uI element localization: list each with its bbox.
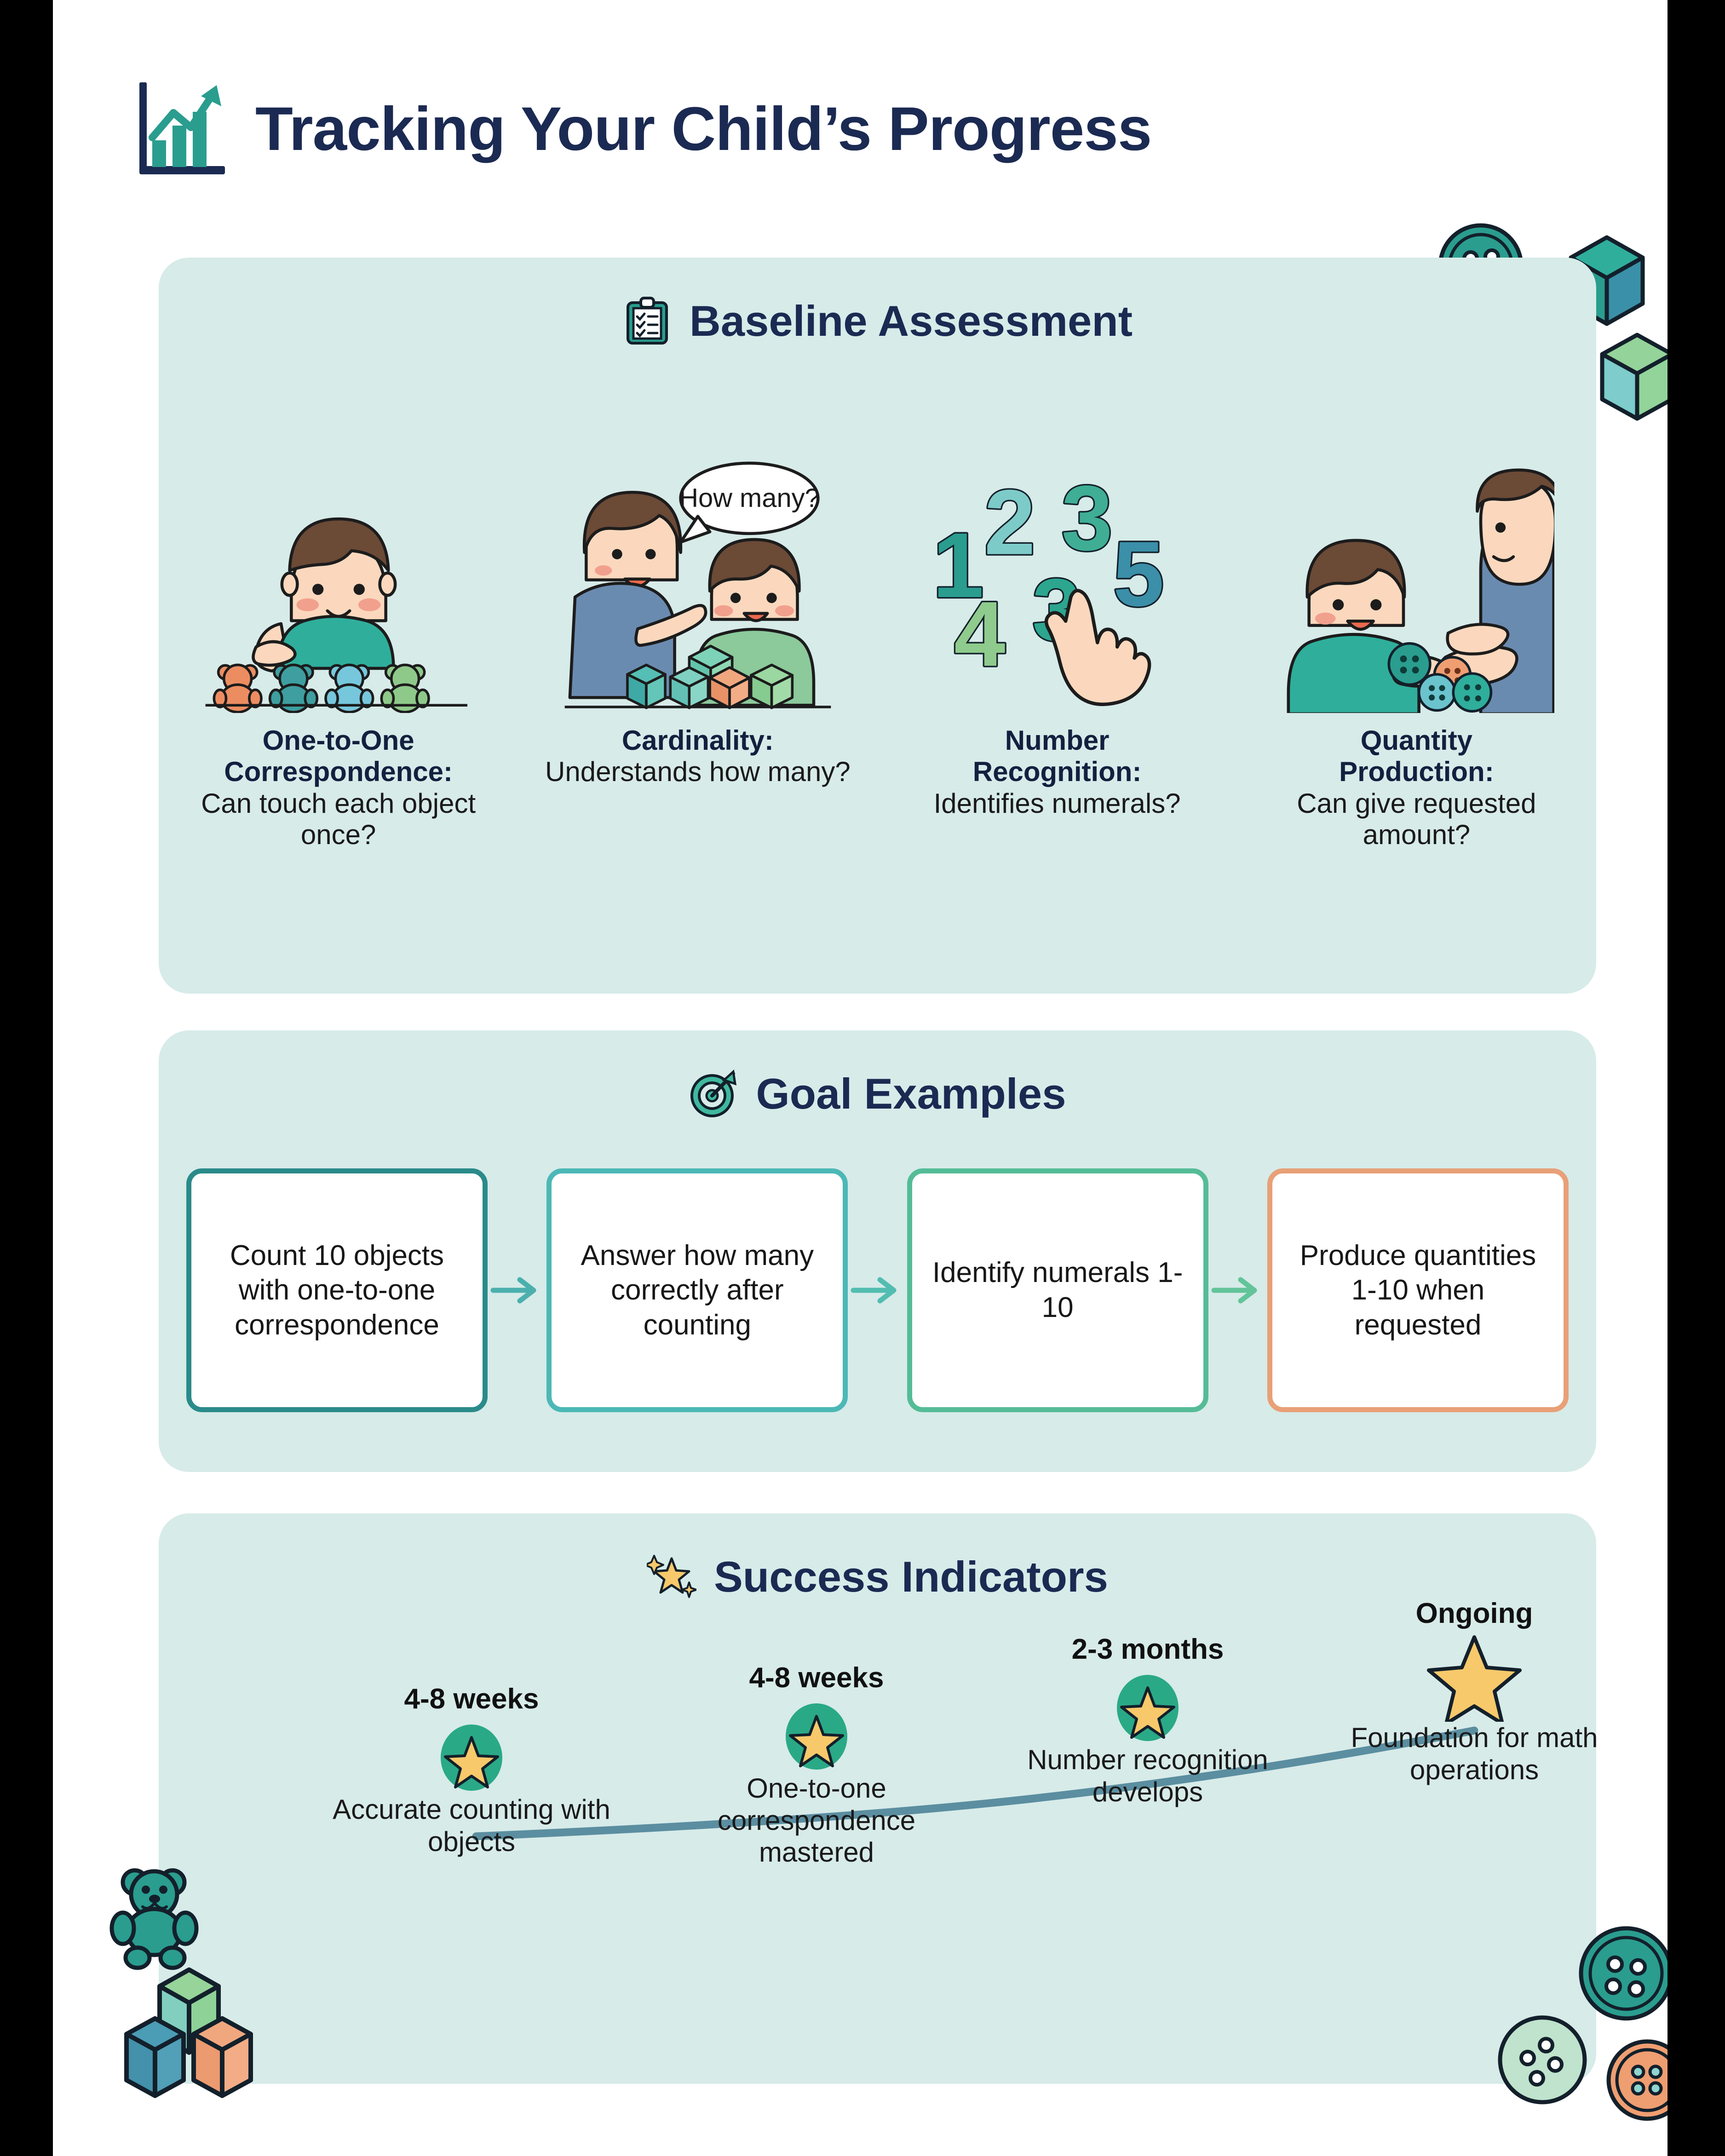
baseline-assessment-panel: Baseline Assessment xyxy=(159,258,1596,994)
clipboard-checklist-icon xyxy=(622,296,672,346)
goal-box-text: Count 10 objects with one-to-one corresp… xyxy=(203,1238,471,1343)
milestone-description: One-to-one correspondence mastered xyxy=(669,1772,964,1869)
arrow-right-icon xyxy=(488,1274,546,1306)
milestone-description: Foundation for math operations xyxy=(1322,1722,1626,1786)
sparkle-stars-icon xyxy=(647,1552,696,1602)
assessment-item-one-to-one: One-to-One Correspondence: Can touch eac… xyxy=(159,409,518,851)
star-in-circle-icon xyxy=(437,1715,506,1794)
goal-box-3[interactable]: Identify numerals 1-10 xyxy=(907,1168,1208,1412)
page-header: Tracking Your Child’s Progress xyxy=(136,69,1608,189)
assessment-item-quantity-production: Quantity Production: Can give requested … xyxy=(1237,409,1596,851)
speech-bubble-text: How many? xyxy=(679,483,820,513)
child-pointing-at-teddy-bears-illustration xyxy=(159,409,518,713)
teddy-bear-and-blocks-decoration xyxy=(103,1868,343,2125)
success-title: Success Indicators xyxy=(714,1552,1108,1602)
goal-box-4[interactable]: Produce quantities 1-10 when requested xyxy=(1267,1168,1569,1412)
goal-examples-panel: Goal Examples Count 10 objects with one-… xyxy=(159,1030,1596,1472)
hand-pointing-at-numerals-illustration: 1 2 3 4 3 5 xyxy=(878,409,1237,713)
goal-box-text: Answer how many correctly after counting xyxy=(563,1238,831,1343)
milestone-time: 2-3 months xyxy=(1072,1633,1224,1666)
assessment-item-number-recognition: 1 2 3 4 3 5 Number Recognit xyxy=(878,409,1237,851)
assessment-items-row: One-to-One Correspondence: Can touch eac… xyxy=(159,409,1596,851)
item-title-line2: Recognition: xyxy=(934,756,1181,788)
adult-asking-child-with-blocks-illustration: How many? xyxy=(518,409,877,713)
item-title-line1: Cardinality: xyxy=(545,725,851,756)
baseline-title: Baseline Assessment xyxy=(690,296,1133,346)
large-star-icon xyxy=(1426,1630,1523,1722)
bar-chart-growth-icon xyxy=(136,80,232,178)
target-dart-icon xyxy=(689,1069,739,1119)
assessment-item-caption: Quantity Production: Can give requested … xyxy=(1237,725,1596,851)
item-description: Can give requested amount? xyxy=(1248,788,1585,851)
milestone-3: 2-3 months Number recognition develops xyxy=(1000,1633,1295,1808)
goal-box-text: Produce quantities 1-10 when requested xyxy=(1284,1238,1552,1343)
milestone-2: 4-8 weeks One-to-one correspondence mast… xyxy=(669,1662,964,1869)
goal-boxes-row: Count 10 objects with one-to-one corresp… xyxy=(186,1168,1569,1412)
assessment-item-caption: One-to-One Correspondence: Can touch eac… xyxy=(159,725,518,851)
item-title-line1: Number xyxy=(934,725,1181,756)
milestone-1: 4-8 weeks Accurate counting with objects xyxy=(324,1683,619,1857)
goal-box-1[interactable]: Count 10 objects with one-to-one corresp… xyxy=(186,1168,488,1412)
item-title-line1: One-to-One xyxy=(170,725,507,756)
assessment-item-caption: Number Recognition: Identifies numerals? xyxy=(923,725,1192,819)
item-description: Can touch each object once? xyxy=(170,788,507,851)
screenshot-stage: Tracking Your Child’s Progress xyxy=(0,0,1725,2156)
star-in-circle-icon xyxy=(1113,1666,1182,1744)
page-title: Tracking Your Child’s Progress xyxy=(255,94,1151,164)
item-title-line2: Correspondence: xyxy=(170,756,507,788)
milestone-description: Number recognition develops xyxy=(1000,1744,1295,1808)
milestone-time: 4-8 weeks xyxy=(749,1662,884,1694)
assessment-item-caption: Cardinality: Understands how many? xyxy=(534,725,862,788)
numeral-5: 5 xyxy=(1113,522,1164,626)
item-title-line2: Production: xyxy=(1248,756,1585,788)
milestone-timeline: 4-8 weeks Accurate counting with objects… xyxy=(159,1605,1596,2084)
item-description: Understands how many? xyxy=(545,756,851,788)
goals-title: Goal Examples xyxy=(756,1069,1066,1119)
milestone-time: 4-8 weeks xyxy=(404,1683,539,1715)
child-handing-counters-to-adult-illustration xyxy=(1237,409,1596,713)
star-in-circle-icon xyxy=(782,1694,851,1772)
success-heading: Success Indicators xyxy=(159,1552,1596,1602)
numeral-2: 2 xyxy=(984,471,1035,574)
item-description: Identifies numerals? xyxy=(934,788,1181,819)
goals-heading: Goal Examples xyxy=(159,1069,1596,1119)
milestone-time: Ongoing xyxy=(1416,1597,1533,1630)
numeral-3a: 3 xyxy=(1061,466,1113,569)
arrow-right-icon xyxy=(848,1274,907,1306)
infographic-page: Tracking Your Child’s Progress xyxy=(53,0,1667,2156)
goal-box-text: Identify numerals 1-10 xyxy=(924,1255,1191,1325)
item-title-line1: Quantity xyxy=(1248,725,1585,756)
goal-box-2[interactable]: Answer how many correctly after counting xyxy=(546,1168,848,1412)
arrow-right-icon xyxy=(1208,1274,1267,1306)
baseline-heading: Baseline Assessment xyxy=(159,296,1596,346)
buttons-decoration xyxy=(1470,1914,1667,2130)
assessment-item-cardinality: How many? xyxy=(518,409,877,851)
numeral-4: 4 xyxy=(954,582,1006,685)
milestone-description: Accurate counting with objects xyxy=(324,1794,619,1857)
success-indicators-panel: Success Indicators 4-8 weeks Accurate co… xyxy=(159,1513,1596,2084)
milestone-4: Ongoing Foundation for math operations xyxy=(1322,1597,1626,1786)
